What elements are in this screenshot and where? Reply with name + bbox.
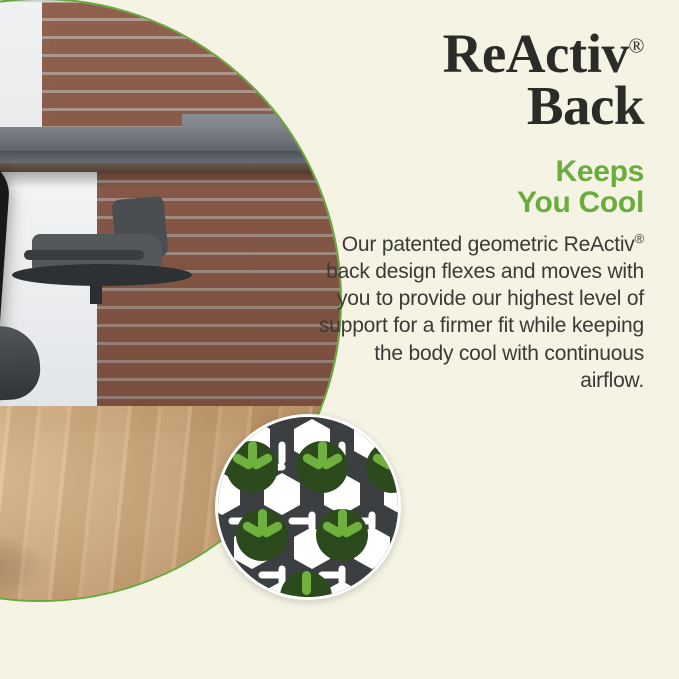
body-copy: Our patented geometric ReActiv® back des… — [314, 231, 644, 395]
subheading-line-1: Keeps — [555, 155, 644, 188]
hex-mesh-illustration — [218, 417, 398, 597]
desk-underside — [0, 163, 342, 172]
body-copy-part-1: Our patented geometric ReActiv — [342, 233, 635, 256]
text-column: ReActiv® Back Keeps You Cool Our patente… — [314, 28, 644, 394]
title-line-2: Back — [527, 75, 644, 136]
registered-trademark-icon: ® — [635, 231, 644, 246]
registered-trademark-icon: ® — [629, 34, 644, 58]
background-chair-arm — [24, 250, 144, 260]
subheading-line-2: You Cool — [517, 186, 644, 219]
mesh-detail-inset — [215, 414, 401, 600]
desk-shadow — [0, 172, 342, 188]
subheading: Keeps You Cool — [314, 157, 644, 218]
body-copy-part-2: back design flexes and moves with you to… — [319, 260, 644, 392]
page-title: ReActiv® Back — [314, 28, 644, 131]
background-chair-base — [12, 264, 192, 286]
desk-top — [0, 127, 342, 153]
